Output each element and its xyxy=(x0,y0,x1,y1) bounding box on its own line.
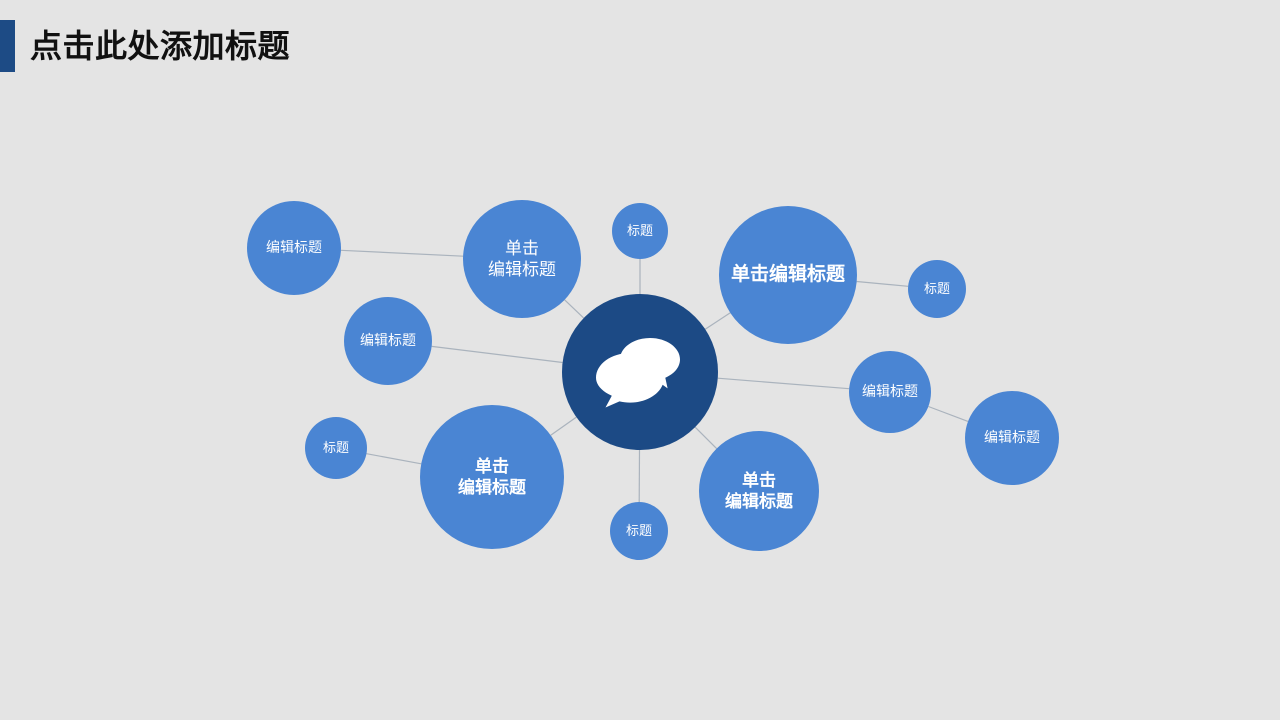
node-top-left-large[interactable]: 单击 编辑标题 xyxy=(463,200,581,318)
link-top-left-outer xyxy=(341,250,463,256)
node-bottom-center-small[interactable]: 标题 xyxy=(610,502,668,560)
node-label: 单击 编辑标题 xyxy=(721,470,797,513)
chat-bubbles-icon xyxy=(594,336,686,408)
node-left-outer-top[interactable]: 编辑标题 xyxy=(247,201,341,295)
node-label: 编辑标题 xyxy=(858,383,922,401)
node-label: 单击 编辑标题 xyxy=(484,238,560,281)
node-label: 标题 xyxy=(623,223,657,239)
node-label: 编辑标题 xyxy=(980,429,1044,447)
node-right-inner[interactable]: 编辑标题 xyxy=(849,351,931,433)
link-bottom-left-small xyxy=(367,454,422,464)
node-label: 编辑标题 xyxy=(262,239,326,257)
node-label: 编辑标题 xyxy=(356,332,420,350)
node-bottom-left-large[interactable]: 单击 编辑标题 xyxy=(420,405,564,549)
node-right-small[interactable]: 标题 xyxy=(908,260,966,318)
node-label: 标题 xyxy=(319,440,353,456)
node-left-small[interactable]: 标题 xyxy=(305,417,367,479)
node-bottom-right-large[interactable]: 单击 编辑标题 xyxy=(699,431,819,551)
link-right-xlarge-small xyxy=(857,282,908,287)
slide-root: 点击此处添加标题 编辑标题编辑标题单击 编辑标题标题单击编辑标题标题编辑标题编辑… xyxy=(0,0,1280,720)
node-top-right-xlarge[interactable]: 单击编辑标题 xyxy=(719,206,857,344)
node-left-inner-top[interactable]: 编辑标题 xyxy=(344,297,432,385)
link-hub-bottom-right-large xyxy=(695,427,716,448)
link-hub-top-right-xlarge xyxy=(705,313,730,329)
node-right-outer[interactable]: 编辑标题 xyxy=(965,391,1059,485)
center-hub[interactable] xyxy=(562,294,718,450)
node-top-center-small[interactable]: 标题 xyxy=(612,203,668,259)
node-label: 单击 编辑标题 xyxy=(454,456,530,499)
link-hub-left-inner-top xyxy=(432,346,563,362)
link-hub-bottom-left-large xyxy=(551,417,577,435)
node-label: 标题 xyxy=(920,281,954,297)
radial-diagram: 编辑标题编辑标题单击 编辑标题标题单击编辑标题标题编辑标题编辑标题单击 编辑标题… xyxy=(0,0,1280,720)
link-hub-right-inner xyxy=(718,378,849,389)
link-right-inner-outer xyxy=(928,407,968,422)
node-label: 标题 xyxy=(622,523,656,539)
node-label: 单击编辑标题 xyxy=(727,263,849,287)
link-hub-top-left-large xyxy=(565,300,584,318)
